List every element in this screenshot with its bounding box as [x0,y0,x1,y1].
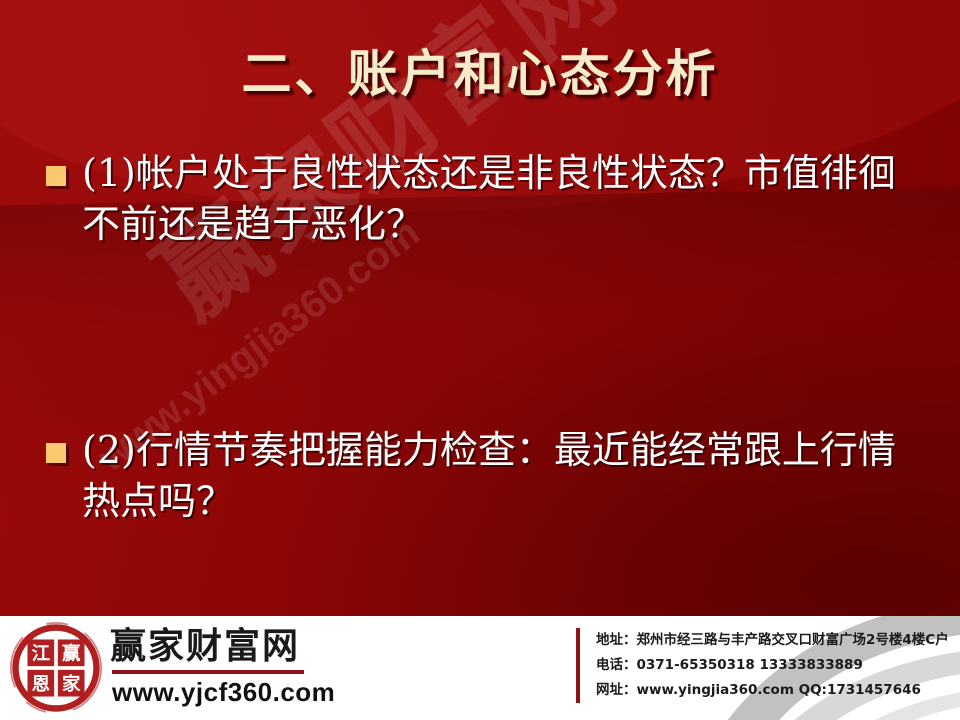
footer-bar: 江 赢 恩 家 赢家财富网 www.yjcf360.com 地址：郑州市经三路与… [0,616,960,720]
brand-name: 赢家财富网 [110,628,335,666]
slide-body: (1)帐户处于良性状态还是非良性状态？市值徘徊不前还是趋于恶化？ (2)行情节奏… [46,148,926,526]
brand-url[interactable]: www.yjcf360.com [112,677,335,708]
contact-info: 地址：郑州市经三路与丰产路交叉口财富广场2号楼4楼C户 电话：0371-6535… [576,628,949,703]
svg-text:恩: 恩 [32,674,50,695]
contact-website: 网址：www.yingjia360.com QQ:1731457646 [596,678,949,703]
presentation-slide: 赢家财富网 www.yingjia360.com 二、账户和心态分析 (1)帐户… [0,0,960,720]
site-logo[interactable]: 江 赢 恩 家 赢家财富网 www.yjcf360.com [10,622,335,714]
bullet-item-2: (2)行情节奏把握能力检查：最近能经常跟上行情热点吗？ [46,425,926,526]
svg-text:家: 家 [62,673,81,695]
bullet-item-2-text: (2)行情节奏把握能力检查：最近能经常跟上行情热点吗？ [82,425,926,526]
square-bullet-icon [46,443,66,463]
slide-title: 二、账户和心态分析 [0,34,960,106]
contact-phone: 电话：0371-65350318 13333833889 [596,653,949,678]
contact-address: 地址：郑州市经三路与丰产路交叉口财富广场2号楼4楼C户 [596,628,949,653]
svg-text:赢: 赢 [62,643,81,665]
bullet-item-1-text: (1)帐户处于良性状态还是非良性状态？市值徘徊不前还是趋于恶化？ [82,148,926,249]
seal-logo-icon: 江 赢 恩 家 [10,622,102,714]
brand-divider [112,670,304,674]
svg-text:江: 江 [32,644,50,665]
bullet-item-1: (1)帐户处于良性状态还是非良性状态？市值徘徊不前还是趋于恶化？ [46,148,926,249]
square-bullet-icon [46,166,66,186]
brand-text-block: 赢家财富网 www.yjcf360.com [110,628,335,708]
